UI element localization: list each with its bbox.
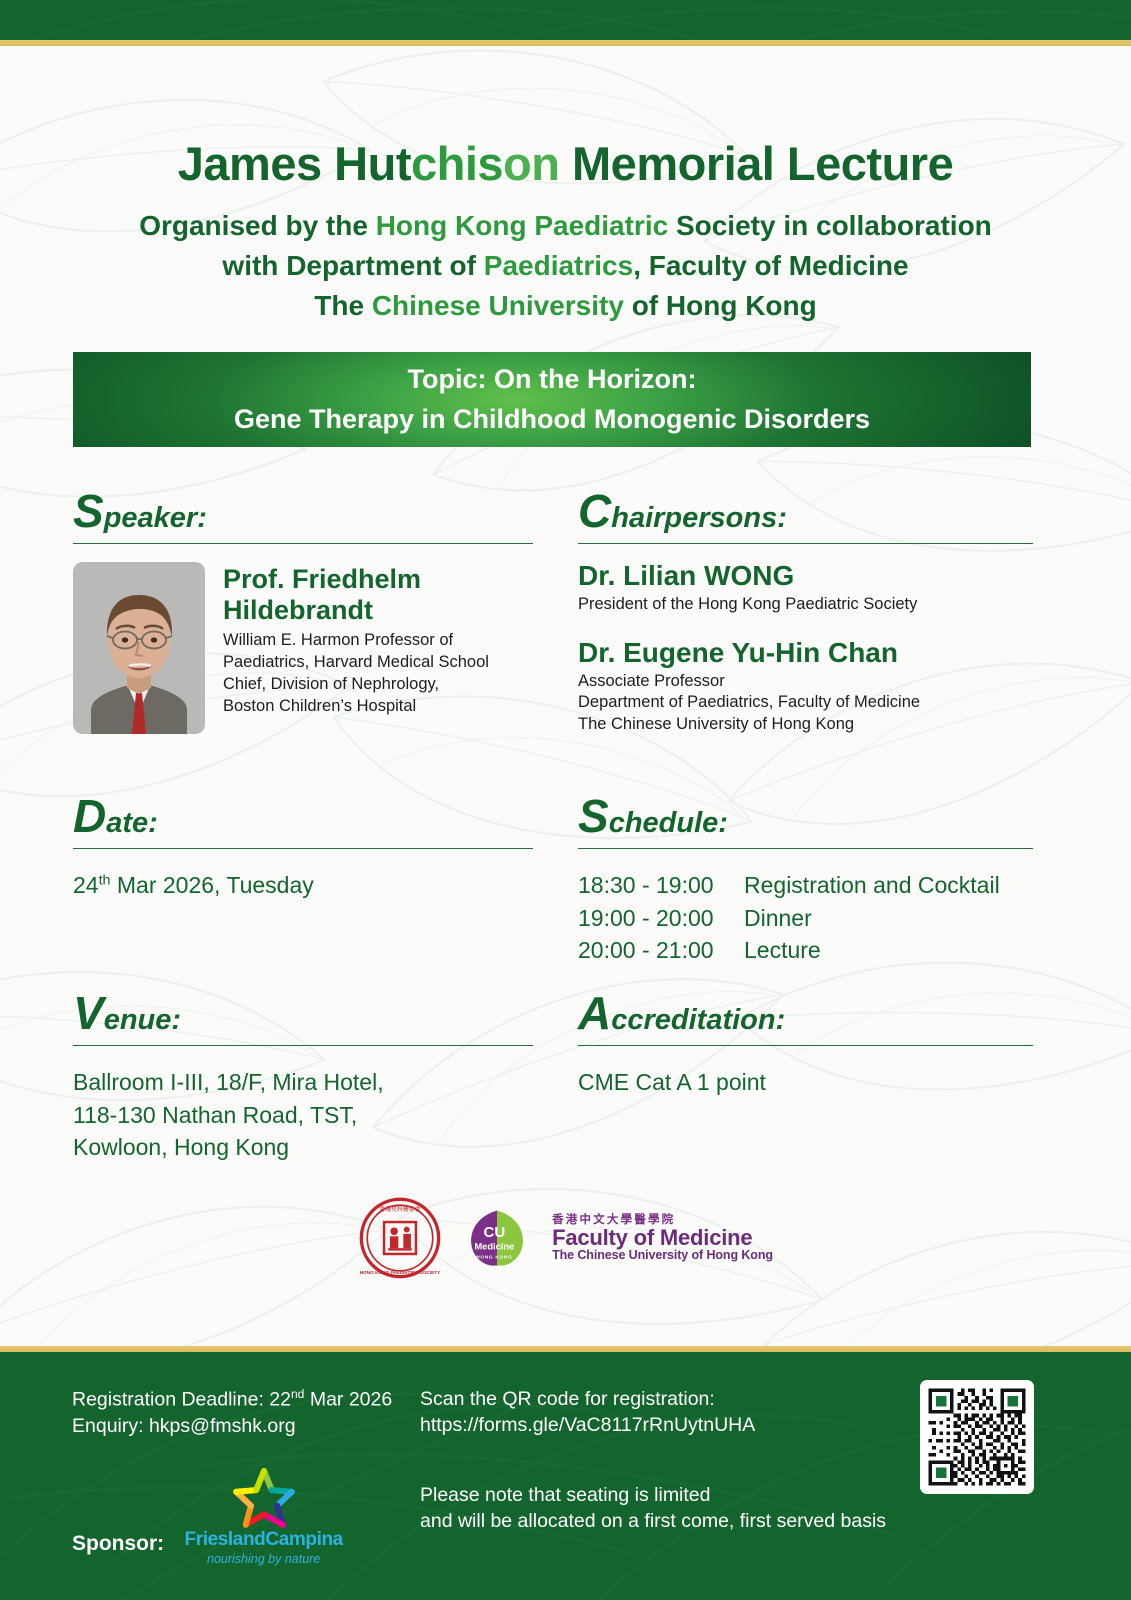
chairperson-2-affiliation: Associate Professor Department of Paedia…	[578, 671, 1033, 735]
frieslandcampina-logo: FrieslandCampina nourishing by nature	[176, 1464, 351, 1566]
subtitle-1b: Hong Kong Paediatric	[376, 210, 676, 241]
faculty-university-name: The Chinese University of Hong Kong	[552, 1249, 773, 1262]
schedule-row: 18:30 - 19:00 Registration and Cocktail	[578, 869, 1033, 902]
venue-heading-cap: V	[73, 987, 104, 1039]
speaker-heading-rest: peaker:	[104, 502, 207, 534]
subtitle-line-2: with Department of Paediatrics, Faculty …	[0, 246, 1131, 286]
venue-rule	[73, 1045, 533, 1046]
subtitle-line-1: Organised by the Hong Kong Paediatric So…	[0, 206, 1131, 246]
speaker-name: Prof. Friedhelm Hildebrandt	[223, 564, 489, 625]
speaker-row: Prof. Friedhelm Hildebrandt William E. H…	[73, 562, 533, 734]
speaker-affiliation-line-2: Paediatrics, Harvard Medical School	[223, 652, 489, 674]
page-title: James Hutchison Memorial Lecture	[0, 139, 1131, 189]
sponsor-tagline: nourishing by nature	[176, 1552, 351, 1566]
registration-deadline-ordinal: nd	[291, 1387, 304, 1401]
subtitle-3b: Chinese University	[372, 290, 632, 321]
speaker-portrait-photo	[73, 562, 205, 734]
schedule-list: 18:30 - 19:00 Registration and Cocktail …	[578, 869, 1033, 967]
schedule-rule	[578, 848, 1033, 849]
chairperson-2: Dr. Eugene Yu-Hin Chan Associate Profess…	[578, 637, 1033, 735]
star-icon	[229, 1464, 299, 1530]
accreditation-value: CME Cat A 1 point	[578, 1066, 1033, 1099]
date-heading-cap: D	[73, 790, 106, 842]
subtitle-2a: with Department of	[222, 250, 483, 281]
footer-contact-block: Registration Deadline: 22nd Mar 2026 Enq…	[72, 1386, 412, 1439]
chairperson-1: Dr. Lilian WONG President of the Hong Ko…	[578, 560, 1033, 615]
topic-banner: Topic: On the Horizon: Gene Therapy in C…	[73, 352, 1031, 447]
date-section: Date: 24th Mar 2026, Tuesday	[73, 793, 533, 902]
accreditation-line-1: CME Cat A 1 point	[578, 1066, 1033, 1099]
qr-prompt: Scan the QR code for registration:	[420, 1386, 890, 1412]
accreditation-heading-rest: ccreditation:	[611, 1004, 785, 1036]
hkps-seal-logo: 香港兒科醫學會 HONG KONG PAEDIATRIC SOCIETY	[358, 1196, 442, 1280]
svg-text:HONG KONG: HONG KONG	[476, 1254, 512, 1260]
speaker-affiliation-line-3: Chief, Division of Nephrology,	[223, 674, 489, 696]
speaker-affiliation-line-4: Boston Children’s Hospital	[223, 696, 489, 718]
date-value: 24th Mar 2026, Tuesday	[73, 869, 533, 902]
top-gold-rule	[0, 40, 1131, 46]
sponsor-label: Sponsor:	[72, 1532, 164, 1566]
seating-note-line-2: and will be allocated on a first come, f…	[420, 1508, 890, 1534]
svg-text:CU: CU	[484, 1224, 506, 1241]
faculty-english-name: Faculty of Medicine	[552, 1226, 773, 1249]
topic-line-1: Topic: On the Horizon:	[408, 360, 697, 399]
subtitle-3a: The	[314, 290, 372, 321]
chairpersons-heading: Chairpersons:	[578, 488, 1033, 534]
cu-medicine-logo: CU Medicine HONG KONG	[466, 1207, 528, 1269]
speaker-affiliation-line-1: William E. Harmon Professor of	[223, 630, 489, 652]
schedule-row-1-activity: Registration and Cocktail	[744, 869, 1000, 902]
footer-registration-block: Scan the QR code for registration: https…	[420, 1386, 890, 1535]
date-rule	[73, 848, 533, 849]
chairpersons-rule	[578, 543, 1033, 544]
avatar	[73, 562, 205, 734]
venue-address: Ballroom I-III, 18/F, Mira Hotel, 118-13…	[73, 1066, 533, 1164]
seating-note: Please note that seating is limited and …	[420, 1482, 890, 1534]
registration-url[interactable]: https://forms.gle/VaC8117rRnUytnUHA	[420, 1412, 890, 1438]
venue-section: Venue: Ballroom I-III, 18/F, Mira Hotel,…	[73, 990, 533, 1164]
seating-note-line-1: Please note that seating is limited	[420, 1482, 890, 1508]
date-ordinal: th	[99, 872, 111, 888]
enquiry-email[interactable]: Enquiry: hkps@fmshk.org	[72, 1413, 412, 1439]
topic-line-2: Gene Therapy in Childhood Monogenic Diso…	[234, 400, 870, 439]
registration-deadline-prefix: Registration Deadline: 22	[72, 1389, 291, 1411]
title-part-1: James Hut	[178, 137, 411, 190]
chairperson-2-name: Dr. Eugene Yu-Hin Chan	[578, 637, 1033, 669]
schedule-row-1-time: 18:30 - 19:00	[578, 869, 744, 902]
subtitle-3c: of Hong Kong	[632, 290, 817, 321]
svg-text:HONG KONG PAEDIATRIC SOCIETY: HONG KONG PAEDIATRIC SOCIETY	[360, 1270, 441, 1275]
chairpersons-section: Chairpersons: Dr. Lilian WONG President …	[578, 488, 1033, 735]
speaker-heading-cap: S	[73, 485, 104, 537]
faculty-of-medicine-wordmark: 香港中文大學醫學院 Faculty of Medicine The Chines…	[552, 1214, 773, 1262]
organisation-logos: 香港兒科醫學會 HONG KONG PAEDIATRIC SOCIETY CU …	[0, 1196, 1131, 1280]
svg-text:Medicine: Medicine	[475, 1242, 515, 1252]
schedule-row: 20:00 - 21:00 Lecture	[578, 934, 1033, 967]
subtitle-line-3: The Chinese University of Hong Kong	[0, 286, 1131, 326]
schedule-heading-cap: S	[578, 790, 609, 842]
speaker-section: Speaker:	[73, 488, 533, 734]
poster-canvas: James Hutchison Memorial Lecture Organis…	[0, 0, 1131, 1600]
venue-line-3: Kowloon, Hong Kong	[73, 1131, 533, 1164]
schedule-row-2-activity: Dinner	[744, 902, 812, 935]
subtitle-2c: , Faculty of Medicine	[633, 250, 908, 281]
venue-line-2: 118-130 Nathan Road, TST,	[73, 1099, 533, 1132]
chairperson-1-affiliation-line-1: President of the Hong Kong Paediatric So…	[578, 594, 1033, 615]
qr-code-icon	[925, 1385, 1029, 1489]
date-heading: Date:	[73, 793, 533, 839]
registration-deadline: Registration Deadline: 22nd Mar 2026	[72, 1386, 412, 1413]
schedule-row-3-time: 20:00 - 21:00	[578, 934, 744, 967]
top-green-band	[0, 0, 1131, 46]
schedule-row-2-time: 19:00 - 20:00	[578, 902, 744, 935]
schedule-row-3-activity: Lecture	[744, 934, 821, 967]
chairperson-1-affiliation: President of the Hong Kong Paediatric So…	[578, 594, 1033, 615]
sponsor-block: Sponsor:	[72, 1464, 351, 1566]
accreditation-heading: Accreditation:	[578, 990, 1033, 1036]
title-part-2: chis	[411, 137, 503, 190]
accreditation-heading-cap: A	[578, 987, 611, 1039]
subtitle-2b: Paediatrics	[484, 250, 633, 281]
date-heading-rest: ate:	[106, 807, 158, 839]
chairpersons-heading-rest: hairpersons:	[611, 502, 787, 534]
chairperson-2-affiliation-line-2: Department of Paediatrics, Faculty of Me…	[578, 692, 1033, 713]
speaker-name-line-2: Hildebrandt	[223, 595, 489, 626]
accreditation-section: Accreditation: CME Cat A 1 point	[578, 990, 1033, 1099]
registration-deadline-suffix: Mar 2026	[304, 1389, 392, 1411]
venue-line-1: Ballroom I-III, 18/F, Mira Hotel,	[73, 1066, 533, 1099]
registration-qr-code[interactable]	[920, 1380, 1034, 1494]
chairperson-2-affiliation-line-3: The Chinese University of Hong Kong	[578, 714, 1033, 735]
speaker-affiliation: William E. Harmon Professor of Paediatri…	[223, 630, 489, 718]
page-subtitle: Organised by the Hong Kong Paediatric So…	[0, 206, 1131, 325]
speaker-name-line-1: Prof. Friedhelm	[223, 564, 489, 595]
schedule-heading-rest: chedule:	[609, 807, 728, 839]
speaker-rule	[73, 543, 533, 544]
speaker-info: Prof. Friedhelm Hildebrandt William E. H…	[223, 562, 489, 734]
chairpersons-heading-cap: C	[578, 485, 611, 537]
title-part-4: Memorial Lecture	[572, 137, 953, 190]
speaker-heading: Speaker:	[73, 488, 533, 534]
schedule-section: Schedule: 18:30 - 19:00 Registration and…	[578, 793, 1033, 967]
venue-heading-rest: enue:	[104, 1004, 181, 1036]
accreditation-rule	[578, 1045, 1033, 1046]
subtitle-1a: Organised by the	[139, 210, 376, 241]
date-day: 24	[73, 872, 99, 898]
svg-text:香港兒科醫學會: 香港兒科醫學會	[380, 1205, 421, 1213]
schedule-heading: Schedule:	[578, 793, 1033, 839]
title-part-3: on	[503, 137, 572, 190]
venue-heading: Venue:	[73, 990, 533, 1036]
schedule-row: 19:00 - 20:00 Dinner	[578, 902, 1033, 935]
date-rest: Mar 2026, Tuesday	[110, 872, 313, 898]
chairperson-1-name: Dr. Lilian WONG	[578, 560, 1033, 592]
chairperson-2-affiliation-line-1: Associate Professor	[578, 671, 1033, 692]
subtitle-1c: Society in collaboration	[676, 210, 992, 241]
sponsor-name: FrieslandCampina	[176, 1530, 351, 1549]
